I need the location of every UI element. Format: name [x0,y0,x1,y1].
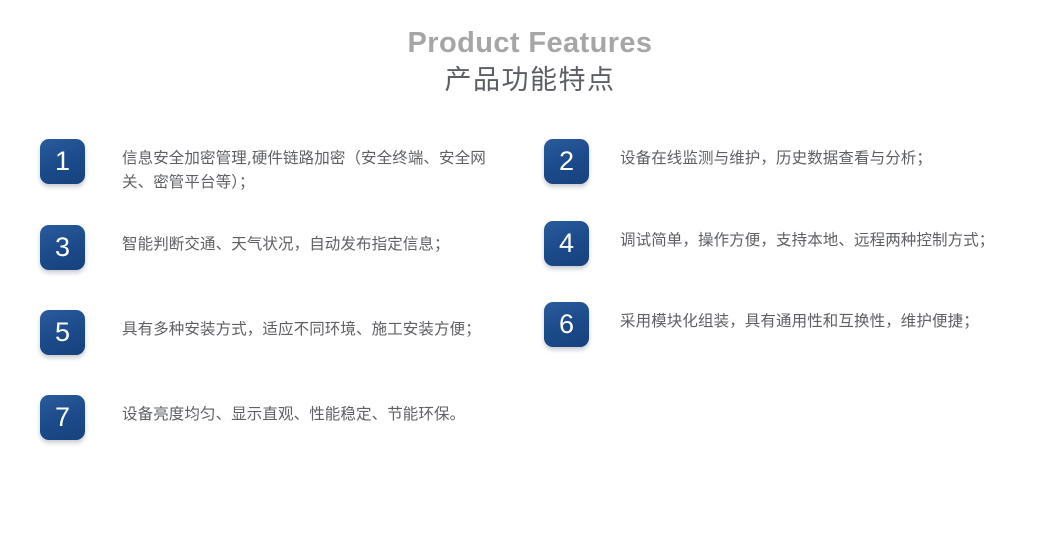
feature-item-5: 5 具有多种安装方式，适应不同环境、施工安装方便； [40,310,490,355]
feature-text-1: 信息安全加密管理,硬件链路加密（安全终端、安全网关、密管平台等）； [122,139,490,194]
feature-item-6: 6 采用模块化组装，具有通用性和互换性，维护便捷； [544,302,1012,347]
product-features-slide: Product Features 产品功能特点 1 信息安全加密管理,硬件链路加… [0,0,1060,534]
page-title-english: Product Features [0,26,1060,60]
feature-number-badge-6: 6 [544,302,589,347]
feature-item-7: 7 设备亮度均匀、显示直观、性能稳定、节能环保。 [40,395,490,440]
feature-text-3: 智能判断交通、天气状况，自动发布指定信息； [122,225,490,256]
feature-text-5: 具有多种安装方式，适应不同环境、施工安装方便； [122,310,490,341]
feature-item-2: 2 设备在线监测与维护，历史数据查看与分析； [544,139,1012,184]
feature-number-badge-4: 4 [544,221,589,266]
title-block: Product Features 产品功能特点 [0,0,1060,98]
feature-item-3: 3 智能判断交通、天气状况，自动发布指定信息； [40,225,490,270]
feature-item-1: 1 信息安全加密管理,硬件链路加密（安全终端、安全网关、密管平台等）； [40,139,490,194]
feature-number-badge-1: 1 [40,139,85,184]
feature-text-4: 调试简单，操作方便，支持本地、远程两种控制方式； [620,221,1012,252]
feature-number-badge-2: 2 [544,139,589,184]
feature-text-7: 设备亮度均匀、显示直观、性能稳定、节能环保。 [122,395,490,426]
feature-text-2: 设备在线监测与维护，历史数据查看与分析； [620,139,1012,170]
feature-list: 1 信息安全加密管理,硬件链路加密（安全终端、安全网关、密管平台等）； 2 设备… [0,130,1060,490]
feature-number-badge-5: 5 [40,310,85,355]
feature-item-4: 4 调试简单，操作方便，支持本地、远程两种控制方式； [544,221,1012,266]
feature-text-6: 采用模块化组装，具有通用性和互换性，维护便捷； [620,302,1012,333]
page-title-chinese: 产品功能特点 [0,63,1060,98]
feature-number-badge-7: 7 [40,395,85,440]
feature-number-badge-3: 3 [40,225,85,270]
